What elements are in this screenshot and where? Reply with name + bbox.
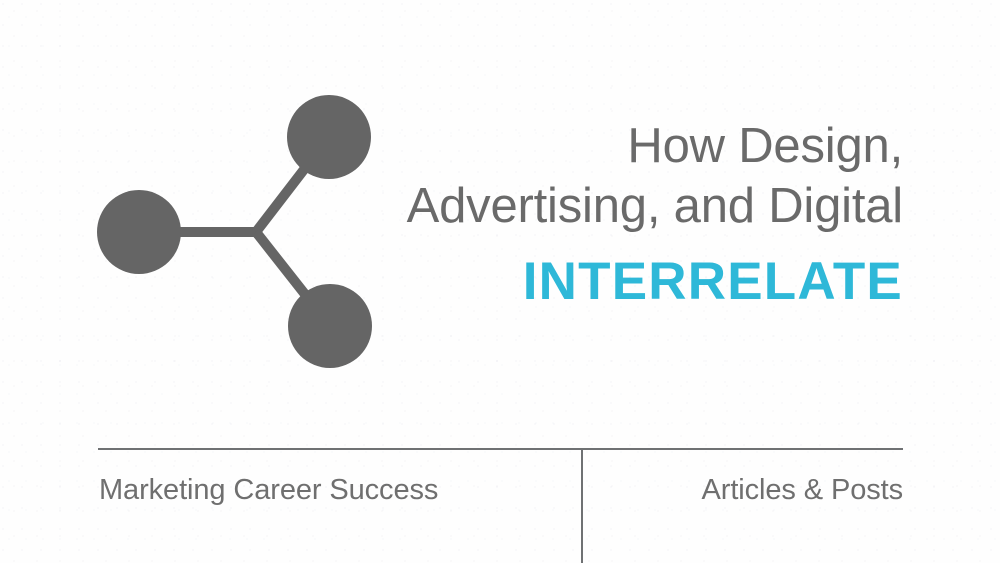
share-network-icon-svg <box>80 80 400 390</box>
node-top-right-circle <box>287 95 371 179</box>
footer-vertical-divider <box>581 450 583 563</box>
headline-line-2: Advertising, and Digital <box>407 178 903 234</box>
footer-label-right: Articles & Posts <box>702 474 903 507</box>
share-network-icon <box>80 80 400 390</box>
node-left-circle <box>97 190 181 274</box>
footer-horizontal-rule <box>98 448 903 450</box>
slide-canvas: How Design, Advertising, and Digital INT… <box>0 0 1000 563</box>
headline-emphasis-word: INTERRELATE <box>523 252 903 312</box>
footer-label-left: Marketing Career Success <box>99 474 438 507</box>
node-bottom-right-circle <box>288 284 372 368</box>
headline-line-1: How Design, <box>627 118 903 174</box>
